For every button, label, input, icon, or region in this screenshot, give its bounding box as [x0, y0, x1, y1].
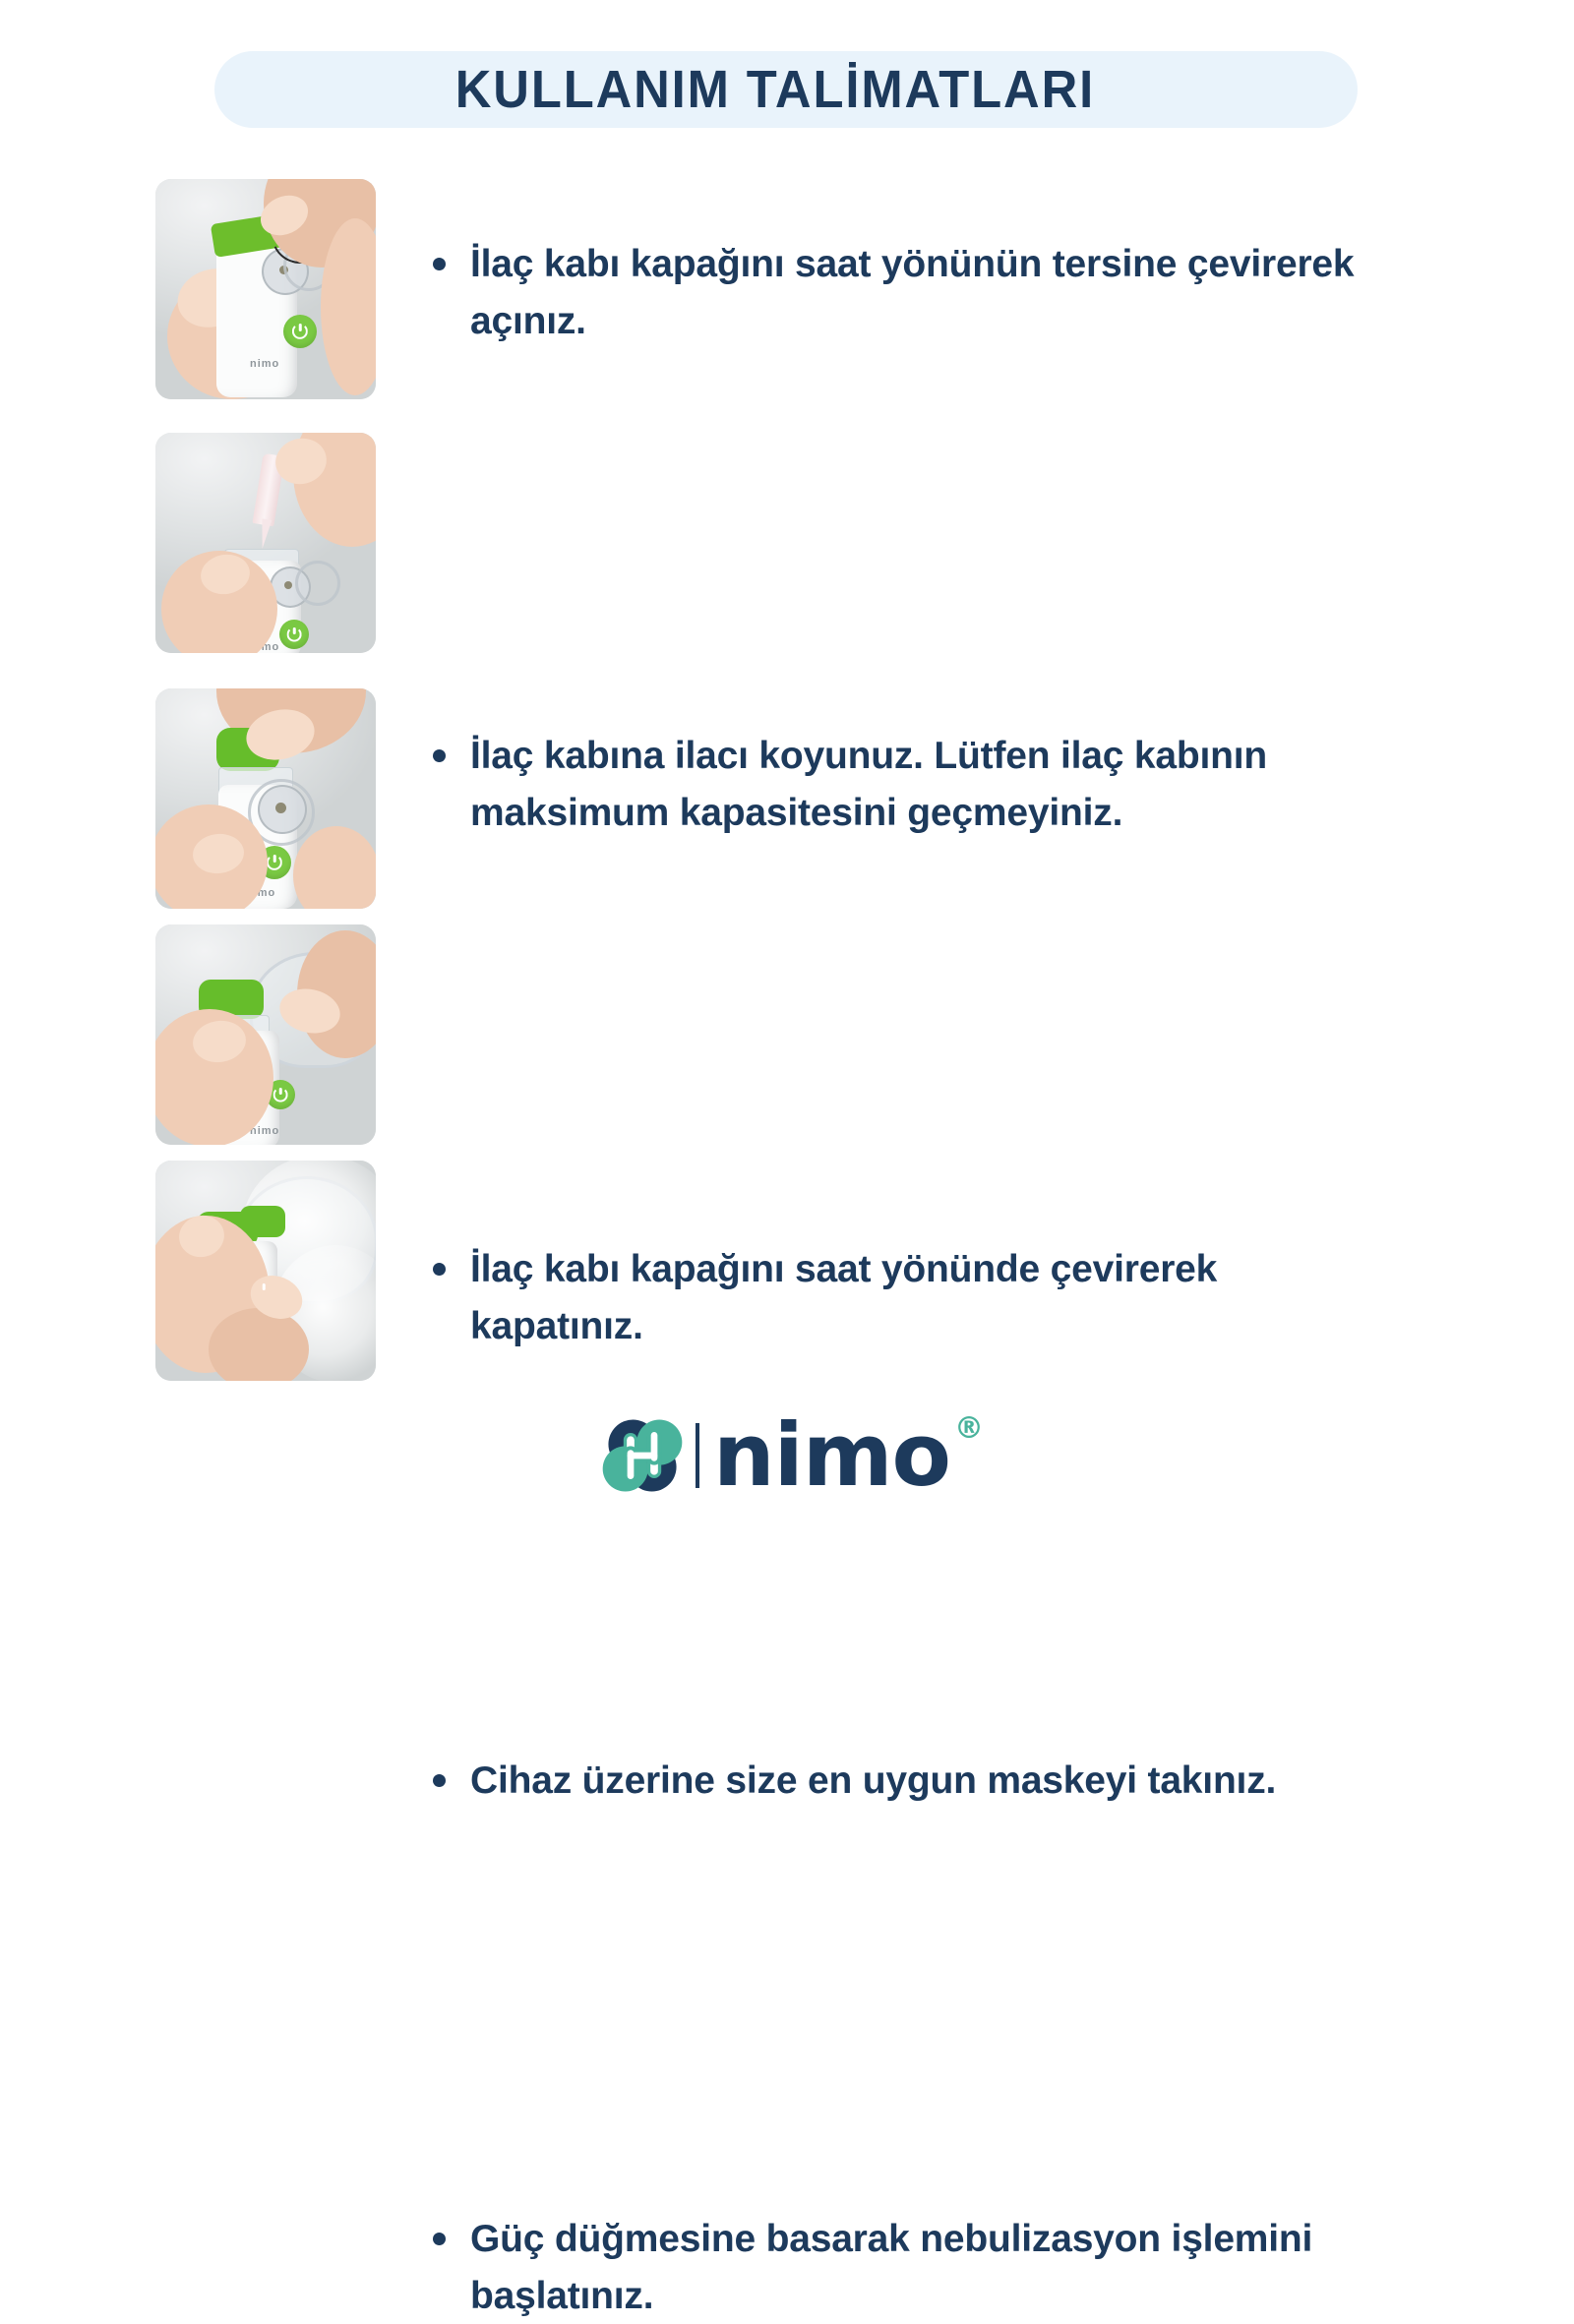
bullet-icon [433, 749, 446, 762]
step-5-label: Güç düğmesine basarak nebulizasyon işlem… [470, 2211, 1385, 2324]
power-button [283, 315, 317, 348]
device-brand-label: nimo [250, 358, 279, 370]
step-2-label: İlaç kabına ilacı koyunuz. Lütfen ilaç k… [470, 728, 1385, 841]
page-title-banner: KULLANIM TALİMATLARI [214, 51, 1358, 128]
bullet-icon [433, 1774, 446, 1787]
registered-trademark-icon: ® [954, 1411, 983, 1446]
step-1-label: İlaç kabı kapağını saat yönünün tersine … [470, 236, 1385, 349]
step-3-label: İlaç kabı kapağını saat yönünde çevirere… [470, 1241, 1385, 1354]
bullet-icon [433, 2233, 446, 2245]
step-3-text-block: İlaç kabı kapağını saat yönünde çevirere… [433, 1241, 1417, 1354]
step-5-photo: nimo [155, 1161, 376, 1381]
step-3-photo: nimo [155, 688, 376, 909]
step-5-text-block: Güç düğmesine basarak nebulizasyon işlem… [433, 2211, 1417, 2324]
step-4-label: Cihaz üzerine size en uygun maskeyi takı… [470, 1753, 1276, 1810]
nebulizer-photo-5: nimo [155, 1161, 376, 1381]
bullet-icon [433, 1263, 446, 1276]
step-2-photo: nimo [155, 433, 376, 653]
nebulizer-photo-3: nimo [155, 688, 376, 909]
brand-name-text: nimo [713, 1404, 950, 1506]
bullet-icon [433, 258, 446, 270]
step-4-text-block: Cihaz üzerine size en uygun maskeyi takı… [433, 1753, 1417, 1810]
step-2-text-block: İlaç kabına ilacı koyunuz. Lütfen ilaç k… [433, 728, 1417, 841]
step-1-text-block: İlaç kabı kapağını saat yönünün tersine … [433, 236, 1417, 349]
nozzle-core [284, 581, 292, 589]
nimo-logo-mark-icon [595, 1408, 690, 1503]
nebulizer-photo-4: nimo [155, 924, 376, 1145]
device-ring [295, 561, 340, 606]
step-1-photo: nimo [155, 179, 376, 399]
nebulizer-photo-1: nimo [155, 179, 376, 399]
brand-footer: nimo® [0, 1408, 1574, 1503]
nebulizer-photo-2: nimo [155, 433, 376, 653]
hand-shape [209, 1308, 309, 1381]
power-button [279, 620, 309, 649]
page-title: KULLANIM TALİMATLARI [455, 59, 1095, 120]
brand-name: nimo® [713, 1412, 979, 1499]
device-green-cap [240, 1206, 285, 1237]
step-4-photo: nimo [155, 924, 376, 1145]
logo-divider [696, 1423, 699, 1488]
